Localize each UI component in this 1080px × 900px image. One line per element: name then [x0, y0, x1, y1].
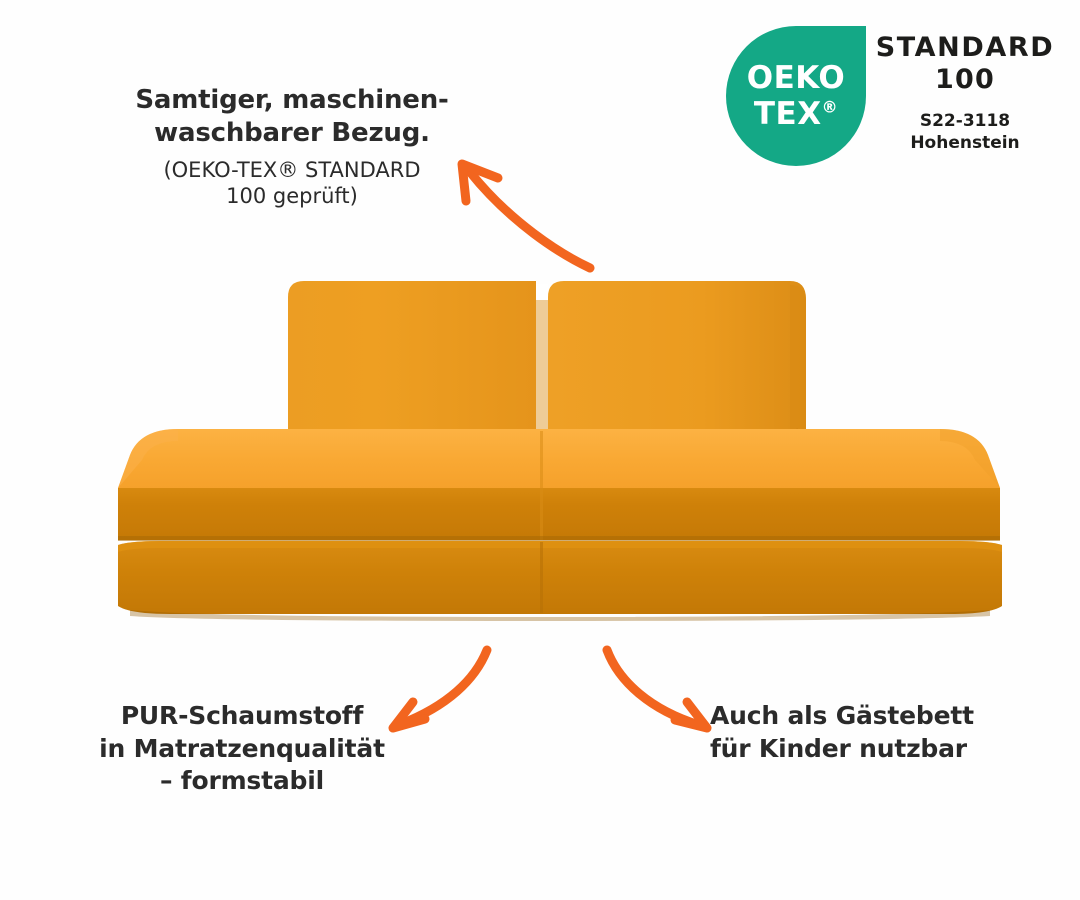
oeko-tex-logo-line2: TEX®	[754, 99, 838, 130]
callout-guestbed: Auch als Gästebett für Kinder nutzbar	[710, 700, 1010, 765]
oeko-tex-logo-icon: OEKO TEX®	[726, 26, 866, 166]
callout-cover: Samtiger, maschinen- waschbarer Bezug. (…	[122, 84, 462, 210]
certificate-id: S22-3118	[874, 110, 1056, 132]
backrest-cushion-right	[548, 281, 806, 452]
arrow-to-guestbed-icon	[595, 640, 720, 740]
callout-foam: PUR-Schaumstoff in Matratzenqualität – f…	[86, 700, 398, 798]
callout-cover-sub-line1: (OEKO-TEX® STANDARD	[122, 157, 462, 184]
seat-slab-lower	[118, 541, 1002, 621]
oeko-tex-certification: OEKO TEX® STANDARD 100 S22-3118 Hohenste…	[726, 26, 1056, 186]
arrow-to-foam-icon	[375, 640, 505, 740]
callout-foam-line3: – formstabil	[86, 765, 398, 798]
certification-institute: Hohenstein	[874, 132, 1056, 154]
callout-foam-line2: in Matratzenqualität	[86, 733, 398, 766]
callout-guestbed-line2: für Kinder nutzbar	[710, 733, 1010, 766]
standard-label: STANDARD	[874, 32, 1056, 64]
callout-cover-headline-line2: waschbarer Bezug.	[122, 117, 462, 150]
certification-text: STANDARD 100 S22-3118 Hohenstein	[874, 32, 1056, 155]
callout-cover-headline-line1: Samtiger, maschinen-	[122, 84, 462, 117]
callout-cover-sub-line2: 100 geprüft)	[122, 183, 462, 210]
oeko-tex-logo-line1: OEKO	[747, 63, 846, 94]
callout-foam-line1: PUR-Schaumstoff	[86, 700, 398, 733]
callout-guestbed-line1: Auch als Gästebett	[710, 700, 1010, 733]
product-infographic: OEKO TEX® STANDARD 100 S22-3118 Hohenste…	[0, 0, 1080, 900]
seat-slab-upper	[118, 429, 1000, 541]
registered-mark-icon: ®	[822, 97, 839, 116]
standard-number: 100	[874, 64, 1056, 96]
arrow-to-cover-icon	[440, 150, 600, 270]
